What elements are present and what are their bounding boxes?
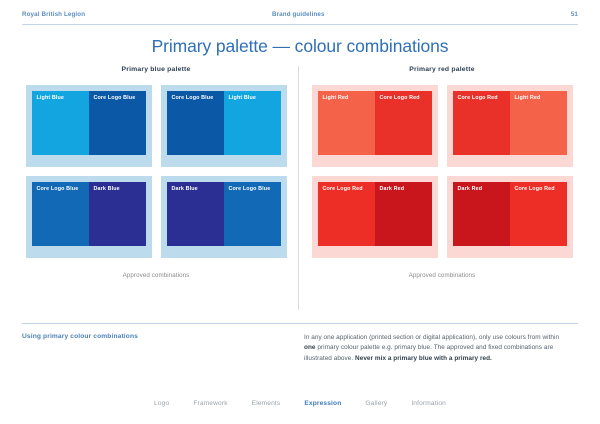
column-divider bbox=[298, 66, 299, 310]
swatch-left: Light Blue bbox=[32, 91, 89, 155]
swatch-left: Core Logo Red bbox=[453, 91, 510, 155]
palette-column-blue: Primary blue palette Light Blue Core Log… bbox=[22, 66, 290, 279]
swatch-label: Core Logo Red bbox=[515, 186, 563, 194]
column-heading-red: Primary red palette bbox=[308, 66, 576, 73]
swatch-label: Dark Red bbox=[458, 186, 506, 194]
swatch-right: Dark Blue bbox=[89, 182, 146, 246]
swatch-left: Core Logo Blue bbox=[167, 91, 224, 155]
header-divider bbox=[22, 24, 578, 25]
bottom-divider bbox=[22, 323, 578, 324]
combination-card[interactable]: Core Logo Red Dark Red bbox=[312, 176, 438, 258]
footer-nav-item-framework[interactable]: Framework bbox=[193, 400, 227, 407]
page-number: 51 bbox=[571, 11, 578, 18]
swatch-label: Core Logo Blue bbox=[37, 186, 85, 194]
column-caption-blue: Approved combinations bbox=[22, 272, 290, 279]
swatch-label: Dark Red bbox=[380, 186, 428, 194]
page-header: Royal British Legion Brand guidelines 51 bbox=[22, 8, 578, 24]
usage-body: In any one application (printed section … bbox=[304, 333, 566, 364]
swatch-label: Light Red bbox=[515, 95, 563, 103]
swatch-right: Dark Red bbox=[375, 182, 432, 246]
combination-card[interactable]: Core Logo Red Light Red bbox=[447, 85, 573, 167]
swatch-grid-blue: Light Blue Core Logo Blue Core Logo Blue… bbox=[22, 85, 290, 258]
swatch-right: Core Logo Blue bbox=[89, 91, 146, 155]
brand-name: Royal British Legion bbox=[22, 11, 85, 18]
footer-nav-item-elements[interactable]: Elements bbox=[252, 400, 281, 407]
combination-card[interactable]: Core Logo Blue Light Blue bbox=[161, 85, 287, 167]
footer-nav-item-logo[interactable]: Logo bbox=[154, 400, 169, 407]
combination-card[interactable]: Dark Blue Core Logo Blue bbox=[161, 176, 287, 258]
swatch-label: Core Logo Blue bbox=[94, 95, 142, 103]
swatch-left: Dark Red bbox=[453, 182, 510, 246]
document-title: Brand guidelines bbox=[272, 11, 325, 18]
footer-navigation: Logo Framework Elements Expression Galle… bbox=[0, 400, 600, 407]
swatch-label: Core Logo Blue bbox=[172, 95, 220, 103]
swatch-left: Dark Blue bbox=[167, 182, 224, 246]
usage-body-strong2: Never mix a primary blue with a primary … bbox=[355, 355, 492, 362]
swatch-label: Light Blue bbox=[229, 95, 277, 103]
combination-card[interactable]: Core Logo Blue Dark Blue bbox=[26, 176, 152, 258]
swatch-label: Core Logo Red bbox=[323, 186, 371, 194]
swatch-right: Core Logo Blue bbox=[224, 182, 281, 246]
swatch-right: Light Blue bbox=[224, 91, 281, 155]
footer-nav-item-expression[interactable]: Expression bbox=[304, 400, 341, 407]
column-caption-red: Approved combinations bbox=[308, 272, 576, 279]
swatch-label: Light Blue bbox=[37, 95, 85, 103]
footer-nav-item-gallery[interactable]: Gallery bbox=[365, 400, 387, 407]
combination-card[interactable]: Dark Red Core Logo Red bbox=[447, 176, 573, 258]
swatch-right: Core Logo Red bbox=[510, 182, 567, 246]
swatch-right: Core Logo Red bbox=[375, 91, 432, 155]
footer-nav-item-information[interactable]: Information bbox=[411, 400, 446, 407]
page-title: Primary palette — colour combinations bbox=[0, 36, 600, 57]
swatch-label: Dark Blue bbox=[172, 186, 220, 194]
usage-body-strong1: one bbox=[304, 344, 316, 351]
swatch-label: Core Logo Red bbox=[380, 95, 428, 103]
usage-heading: Using primary colour combinations bbox=[22, 333, 272, 340]
swatch-grid-red: Light Red Core Logo Red Core Logo Red Li… bbox=[308, 85, 576, 258]
swatch-label: Core Logo Red bbox=[458, 95, 506, 103]
swatch-right: Light Red bbox=[510, 91, 567, 155]
swatch-left: Core Logo Blue bbox=[32, 182, 89, 246]
swatch-label: Light Red bbox=[323, 95, 371, 103]
palette-column-red: Primary red palette Light Red Core Logo … bbox=[308, 66, 576, 279]
swatch-label: Dark Blue bbox=[94, 186, 142, 194]
combination-card[interactable]: Light Blue Core Logo Blue bbox=[26, 85, 152, 167]
brand-guidelines-page: Royal British Legion Brand guidelines 51… bbox=[0, 0, 600, 424]
swatch-left: Light Red bbox=[318, 91, 375, 155]
swatch-label: Core Logo Blue bbox=[229, 186, 277, 194]
swatch-left: Core Logo Red bbox=[318, 182, 375, 246]
usage-body-part1: In any one application (printed section … bbox=[304, 334, 559, 341]
combination-card[interactable]: Light Red Core Logo Red bbox=[312, 85, 438, 167]
column-heading-blue: Primary blue palette bbox=[22, 66, 290, 73]
